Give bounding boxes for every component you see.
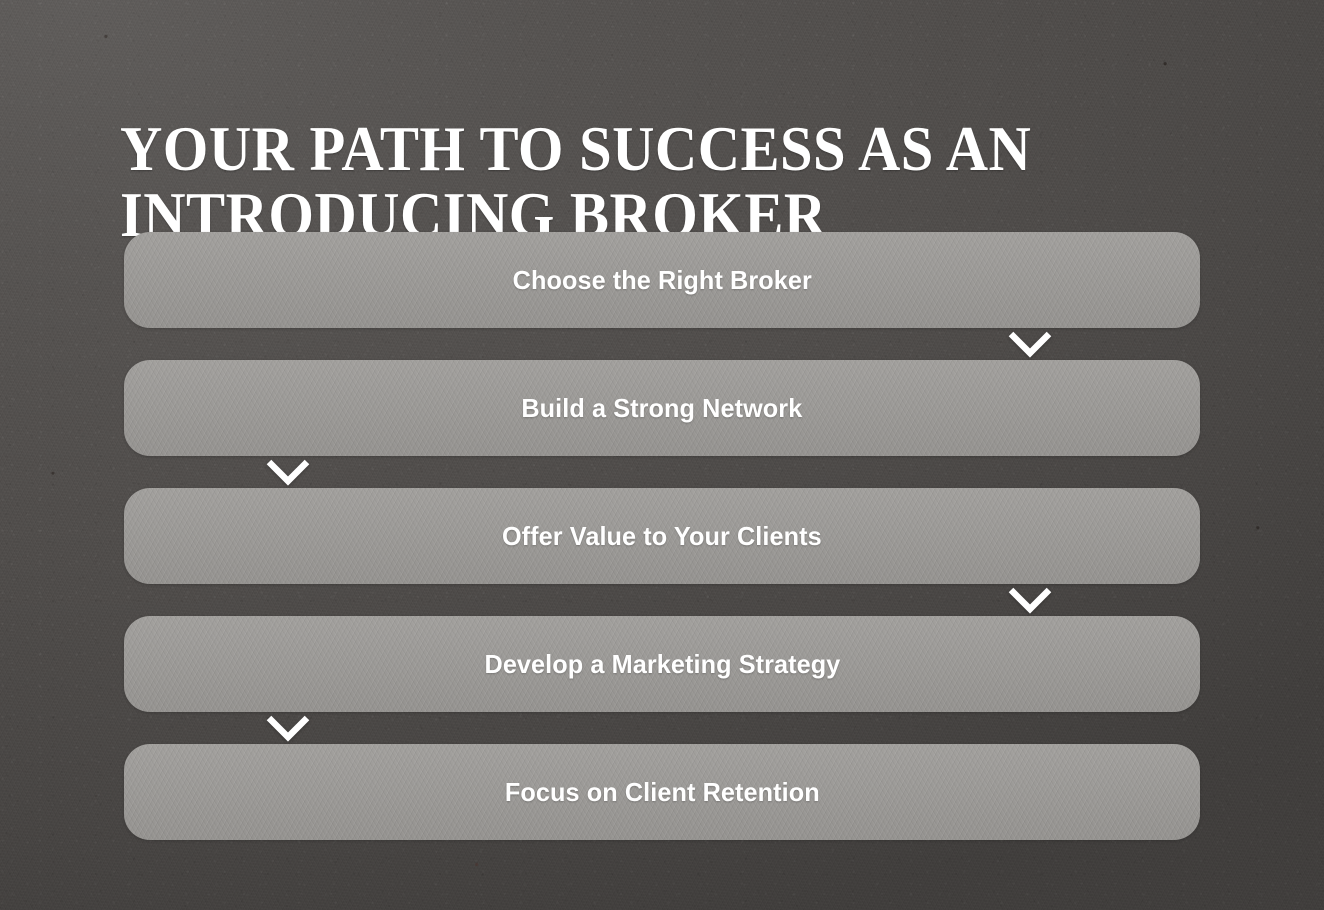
step-bar-4[interactable]: Develop a Marketing Strategy	[124, 616, 1200, 712]
step-bar-3[interactable]: Offer Value to Your Clients	[124, 488, 1200, 584]
infographic-poster: YOUR PATH TO SUCCESS AS AN INTRODUCING B…	[0, 0, 1324, 910]
step-label-3: Offer Value to Your Clients	[502, 521, 822, 552]
chevron-down-icon	[1007, 585, 1053, 615]
chevron-down-icon	[265, 457, 311, 487]
step-label-5: Focus on Client Retention	[505, 777, 820, 808]
step-bar-5[interactable]: Focus on Client Retention	[124, 744, 1200, 840]
step-label-4: Develop a Marketing Strategy	[484, 649, 840, 680]
step-bar-2[interactable]: Build a Strong Network	[124, 360, 1200, 456]
page-title: YOUR PATH TO SUCCESS AS AN INTRODUCING B…	[120, 116, 1050, 248]
chevron-down-icon	[265, 713, 311, 743]
step-label-2: Build a Strong Network	[522, 393, 803, 424]
chevron-down-icon	[1007, 329, 1053, 359]
step-bar-1[interactable]: Choose the Right Broker	[124, 232, 1200, 328]
step-label-1: Choose the Right Broker	[512, 265, 811, 296]
